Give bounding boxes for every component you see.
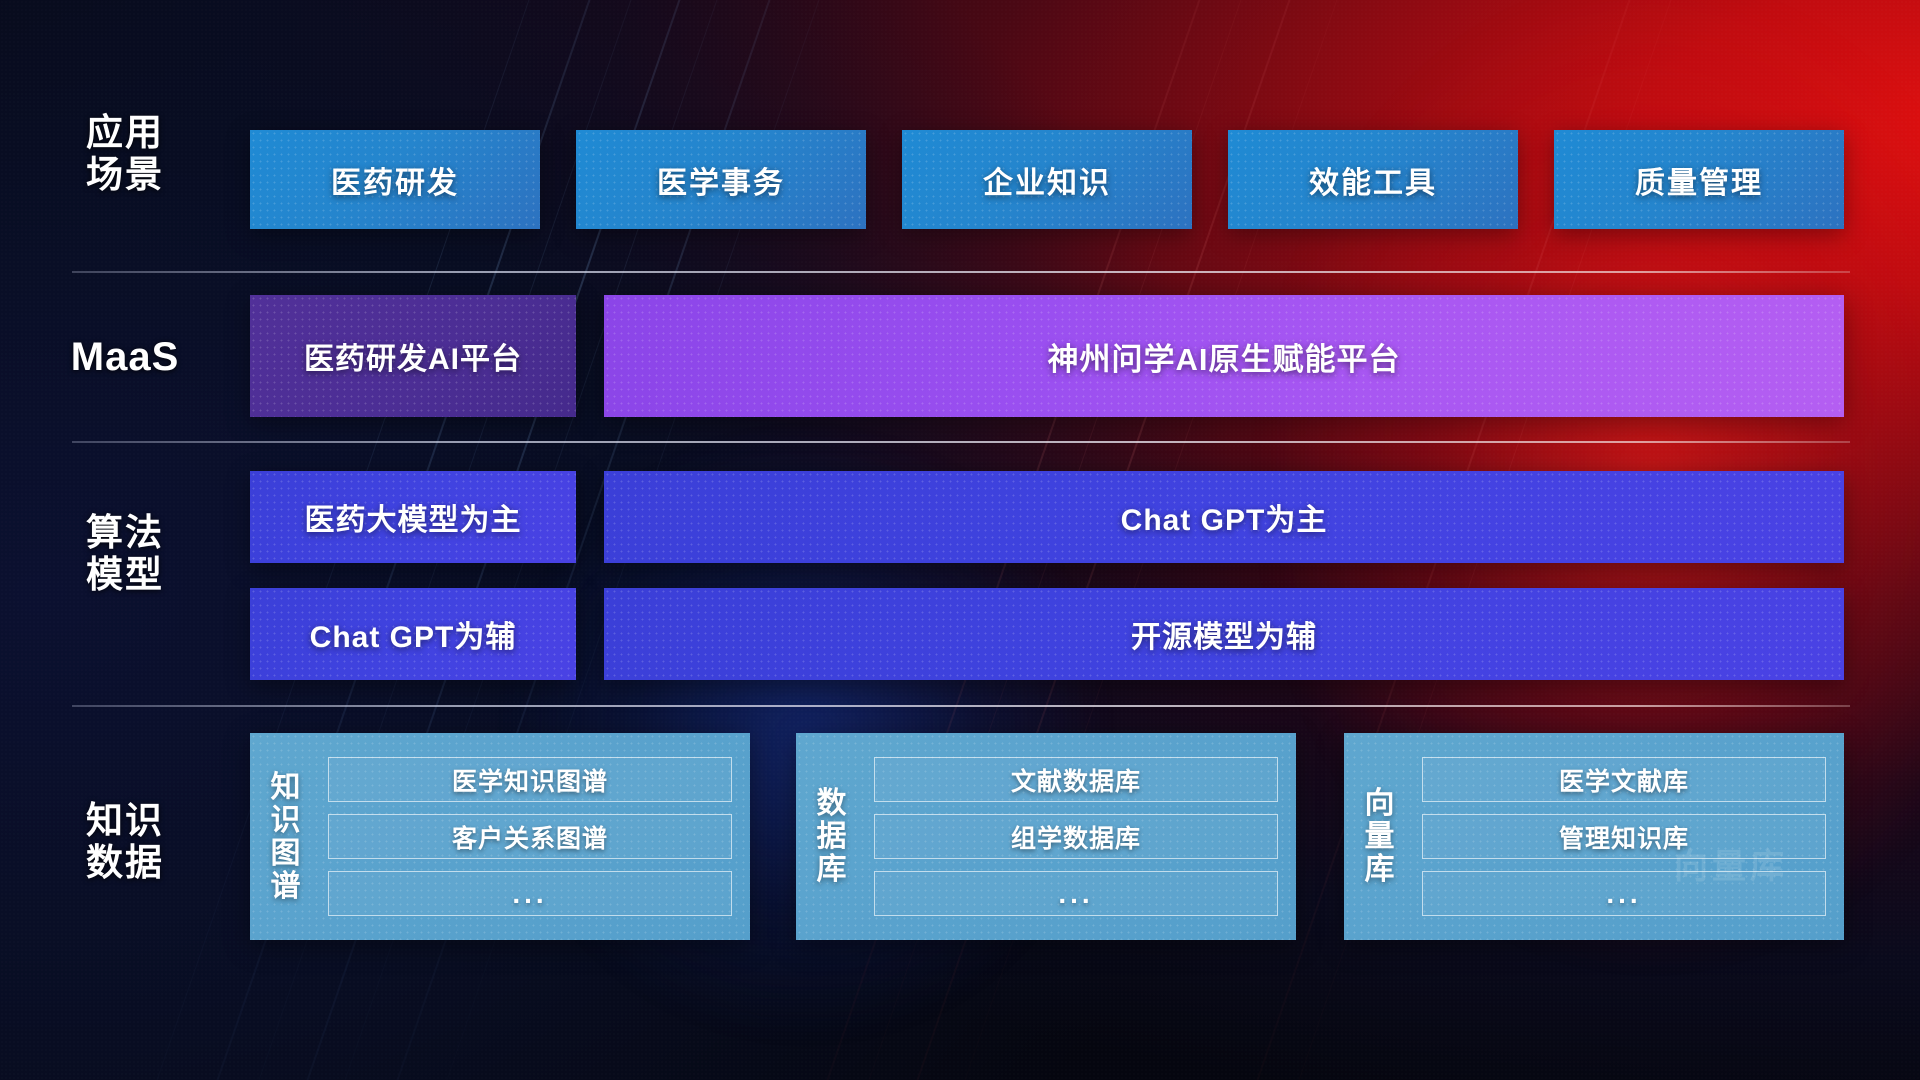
- card-label: 医学事务: [657, 158, 785, 202]
- knowledge-item[interactable]: 组学数据库: [874, 814, 1278, 859]
- card-label: 效能工具: [1309, 158, 1437, 202]
- row-label-line: MaaS: [0, 335, 250, 381]
- knowledge-item[interactable]: 医学文献库: [1422, 757, 1826, 802]
- card-label: 医药研发AI平台: [304, 334, 522, 378]
- row-label-line: 算法: [0, 512, 250, 554]
- knowledge-item-more[interactable]: ...: [874, 871, 1278, 916]
- knowledge-item[interactable]: 医学知识图谱: [328, 757, 732, 802]
- maas-card-medicine-rd-ai-platform[interactable]: 医药研发AI平台: [250, 295, 576, 417]
- panel-title-knowledge-graph: 知 识 图 谱: [250, 771, 322, 903]
- maas-card-shenzhou-wenxue-platform[interactable]: 神州问学AI原生赋能平台: [604, 295, 1844, 417]
- panel-title-char: 库: [817, 853, 848, 886]
- card-label: 开源模型为辅: [1131, 612, 1317, 656]
- panel-title-char: 库: [1365, 853, 1396, 886]
- algo-card-medicine-large-model-primary[interactable]: 医药大模型为主: [250, 471, 576, 563]
- row-label-line: 模型: [0, 554, 250, 596]
- panel-title-char: 量: [1365, 820, 1396, 853]
- divider-3: [72, 705, 1850, 707]
- row-label-knowledge-data: 知识 数据: [0, 800, 250, 884]
- panel-title-vector-store: 向 量 库: [1344, 787, 1416, 886]
- app-card-medicine-rd[interactable]: 医药研发: [250, 130, 540, 229]
- app-card-medical-affairs[interactable]: 医学事务: [576, 130, 866, 229]
- app-card-enterprise-knowledge[interactable]: 企业知识: [902, 130, 1192, 229]
- row-label-line: 应用: [0, 112, 250, 154]
- panel-title-char: 图: [271, 837, 302, 870]
- row-label-maas: MaaS: [0, 335, 250, 381]
- card-label: 神州问学AI原生赋能平台: [1048, 334, 1401, 379]
- row-label-application-scenarios: 应用 场景: [0, 112, 250, 196]
- panel-title-char: 识: [271, 804, 302, 837]
- row-label-line: 数据: [0, 842, 250, 884]
- algo-card-open-source-secondary[interactable]: 开源模型为辅: [604, 588, 1844, 680]
- panel-title-database: 数 据 库: [796, 787, 868, 886]
- row-label-line: 场景: [0, 154, 250, 196]
- panel-title-char: 数: [817, 787, 848, 820]
- knowledge-item[interactable]: 客户关系图谱: [328, 814, 732, 859]
- card-label: Chat GPT为主: [1121, 495, 1328, 539]
- algo-card-chatgpt-secondary[interactable]: Chat GPT为辅: [250, 588, 576, 680]
- knowledge-panel-vector-store[interactable]: 向量库 向 量 库 医学文献库 管理知识库 ...: [1344, 733, 1844, 940]
- knowledge-item-more[interactable]: ...: [1422, 871, 1826, 916]
- card-label: 企业知识: [983, 158, 1111, 202]
- card-label: 医药研发: [331, 158, 459, 202]
- knowledge-item[interactable]: 管理知识库: [1422, 814, 1826, 859]
- algo-card-chatgpt-primary[interactable]: Chat GPT为主: [604, 471, 1844, 563]
- divider-2: [72, 441, 1850, 443]
- panel-title-char: 谱: [271, 870, 302, 903]
- row-label-line: 知识: [0, 800, 250, 842]
- knowledge-panel-database[interactable]: 数 据 库 文献数据库 组学数据库 ...: [796, 733, 1296, 940]
- app-card-quality-management[interactable]: 质量管理: [1554, 130, 1844, 229]
- knowledge-item[interactable]: 文献数据库: [874, 757, 1278, 802]
- knowledge-panel-knowledge-graph[interactable]: 知 识 图 谱 医学知识图谱 客户关系图谱 ...: [250, 733, 750, 940]
- knowledge-item-more[interactable]: ...: [328, 871, 732, 916]
- divider-1: [72, 271, 1850, 273]
- panel-title-char: 据: [817, 820, 848, 853]
- card-label: Chat GPT为辅: [310, 612, 517, 656]
- card-label: 医药大模型为主: [305, 495, 522, 539]
- panel-title-char: 向: [1365, 787, 1396, 820]
- card-label: 质量管理: [1635, 158, 1763, 202]
- panel-title-char: 知: [271, 771, 302, 804]
- row-label-algorithm-models: 算法 模型: [0, 512, 250, 596]
- app-card-efficiency-tools[interactable]: 效能工具: [1228, 130, 1518, 229]
